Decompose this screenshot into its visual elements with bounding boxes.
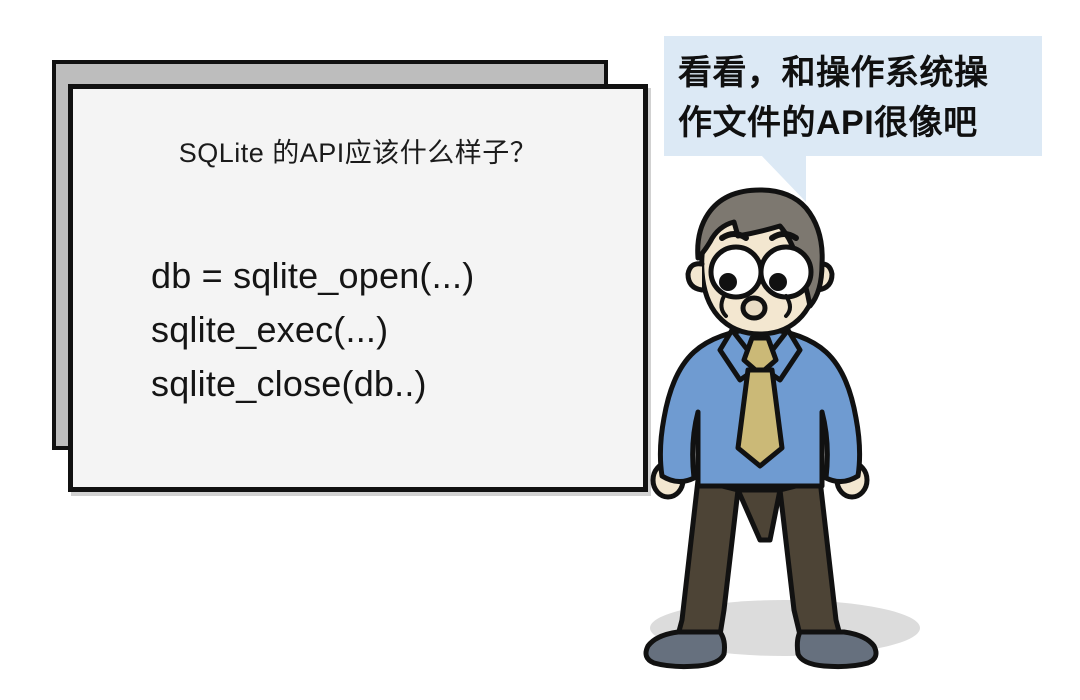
slide-card-front: SQLite 的API应该什么样子？ db = sqlite_open(...)… [68, 84, 648, 492]
eye-left [711, 247, 761, 297]
speech-bubble: 看看，和操作系统操 作文件的API很像吧 [664, 36, 1042, 156]
code-line: db = sqlite_open(...) [151, 249, 474, 303]
illustration-canvas: SQLite 的API应该什么样子？ db = sqlite_open(...)… [0, 0, 1080, 700]
shoe-left [646, 632, 725, 667]
pupil-left [719, 273, 737, 291]
slide-title: SQLite 的API应该什么样子？ [73, 131, 643, 170]
cartoon-man-illustration [620, 180, 920, 670]
mouth [743, 298, 765, 318]
code-line: sqlite_close(db..) [151, 357, 474, 411]
code-line: sqlite_exec(...) [151, 303, 474, 357]
speech-bubble-line: 看看，和操作系统操 [678, 48, 1028, 98]
speech-bubble-line: 作文件的API很像吧 [678, 98, 1028, 148]
shoe-right [797, 632, 876, 667]
ear-left [688, 264, 702, 290]
tie-body [738, 370, 782, 466]
pupil-right [769, 273, 787, 291]
eye-right [761, 247, 811, 297]
trouser-right [780, 480, 840, 635]
code-block: db = sqlite_open(...) sqlite_exec(...) s… [151, 249, 474, 411]
trouser-left [678, 480, 738, 635]
